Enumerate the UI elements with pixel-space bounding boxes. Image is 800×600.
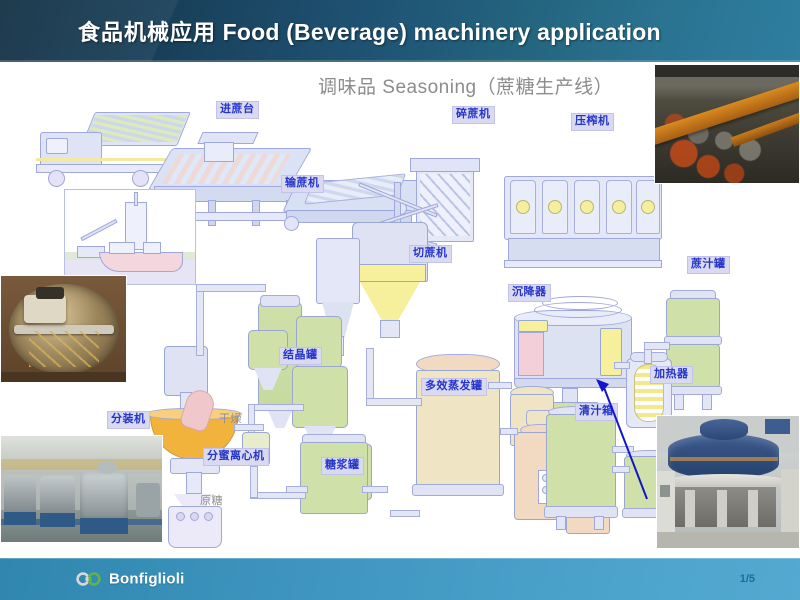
label-cane-cutter: 切蔗机 — [409, 245, 452, 263]
mill-hall-photo — [654, 64, 800, 184]
label-syrup-tank: 糖浆罐 — [321, 457, 364, 475]
label-clear-juice-tank: 清汁箱 — [575, 403, 618, 421]
slide-footer: Bonfiglioli 1/5 — [0, 558, 800, 600]
page-title: 食品机械应用 Food (Beverage) machinery applica… — [78, 15, 661, 47]
slide-header: 食品机械应用 Food (Beverage) machinery applica… — [0, 0, 800, 62]
brand-logo: Bonfiglioli — [76, 571, 185, 588]
label-cane-juice-tank: 蔗汁罐 — [687, 256, 730, 274]
label-cane-conveyor: 输蔗机 — [281, 175, 324, 193]
centrifuge-row-photo — [0, 435, 163, 543]
label-packaging-machine: 分装机 — [107, 411, 150, 429]
page-title-chinese: 食品机械应用 — [78, 20, 216, 45]
slide: 食品机械应用 Food (Beverage) machinery applica… — [0, 0, 800, 600]
label-drying: 干燥 — [219, 410, 242, 426]
honey-extractor-photo — [0, 275, 127, 383]
slide-content: 调味品 Seasoning（蔗糖生产线） — [0, 62, 800, 558]
bonfiglioli-gears-logo-icon — [76, 572, 102, 587]
label-molasses-centrifuge: 分蜜离心机 — [203, 448, 269, 466]
label-cane-shredder: 碎蔗机 — [452, 106, 495, 124]
label-milling-press: 压榨机 — [571, 113, 614, 131]
label-crystallizer-tank: 结晶罐 — [279, 347, 322, 365]
page-number: 1/5 — [740, 573, 755, 585]
label-clarifier: 沉降器 — [508, 284, 551, 302]
page-title-english: Food (Beverage) machinery application — [223, 19, 661, 45]
clarifier-building-photo — [656, 415, 800, 549]
label-heater: 加热器 — [650, 366, 693, 384]
label-raw-sugar: 原糖 — [200, 492, 223, 508]
label-evaporator: 多效蒸发罐 — [421, 378, 487, 396]
brand-name: Bonfiglioli — [109, 571, 185, 588]
label-cane-feeding-table: 进蔗台 — [216, 101, 259, 119]
